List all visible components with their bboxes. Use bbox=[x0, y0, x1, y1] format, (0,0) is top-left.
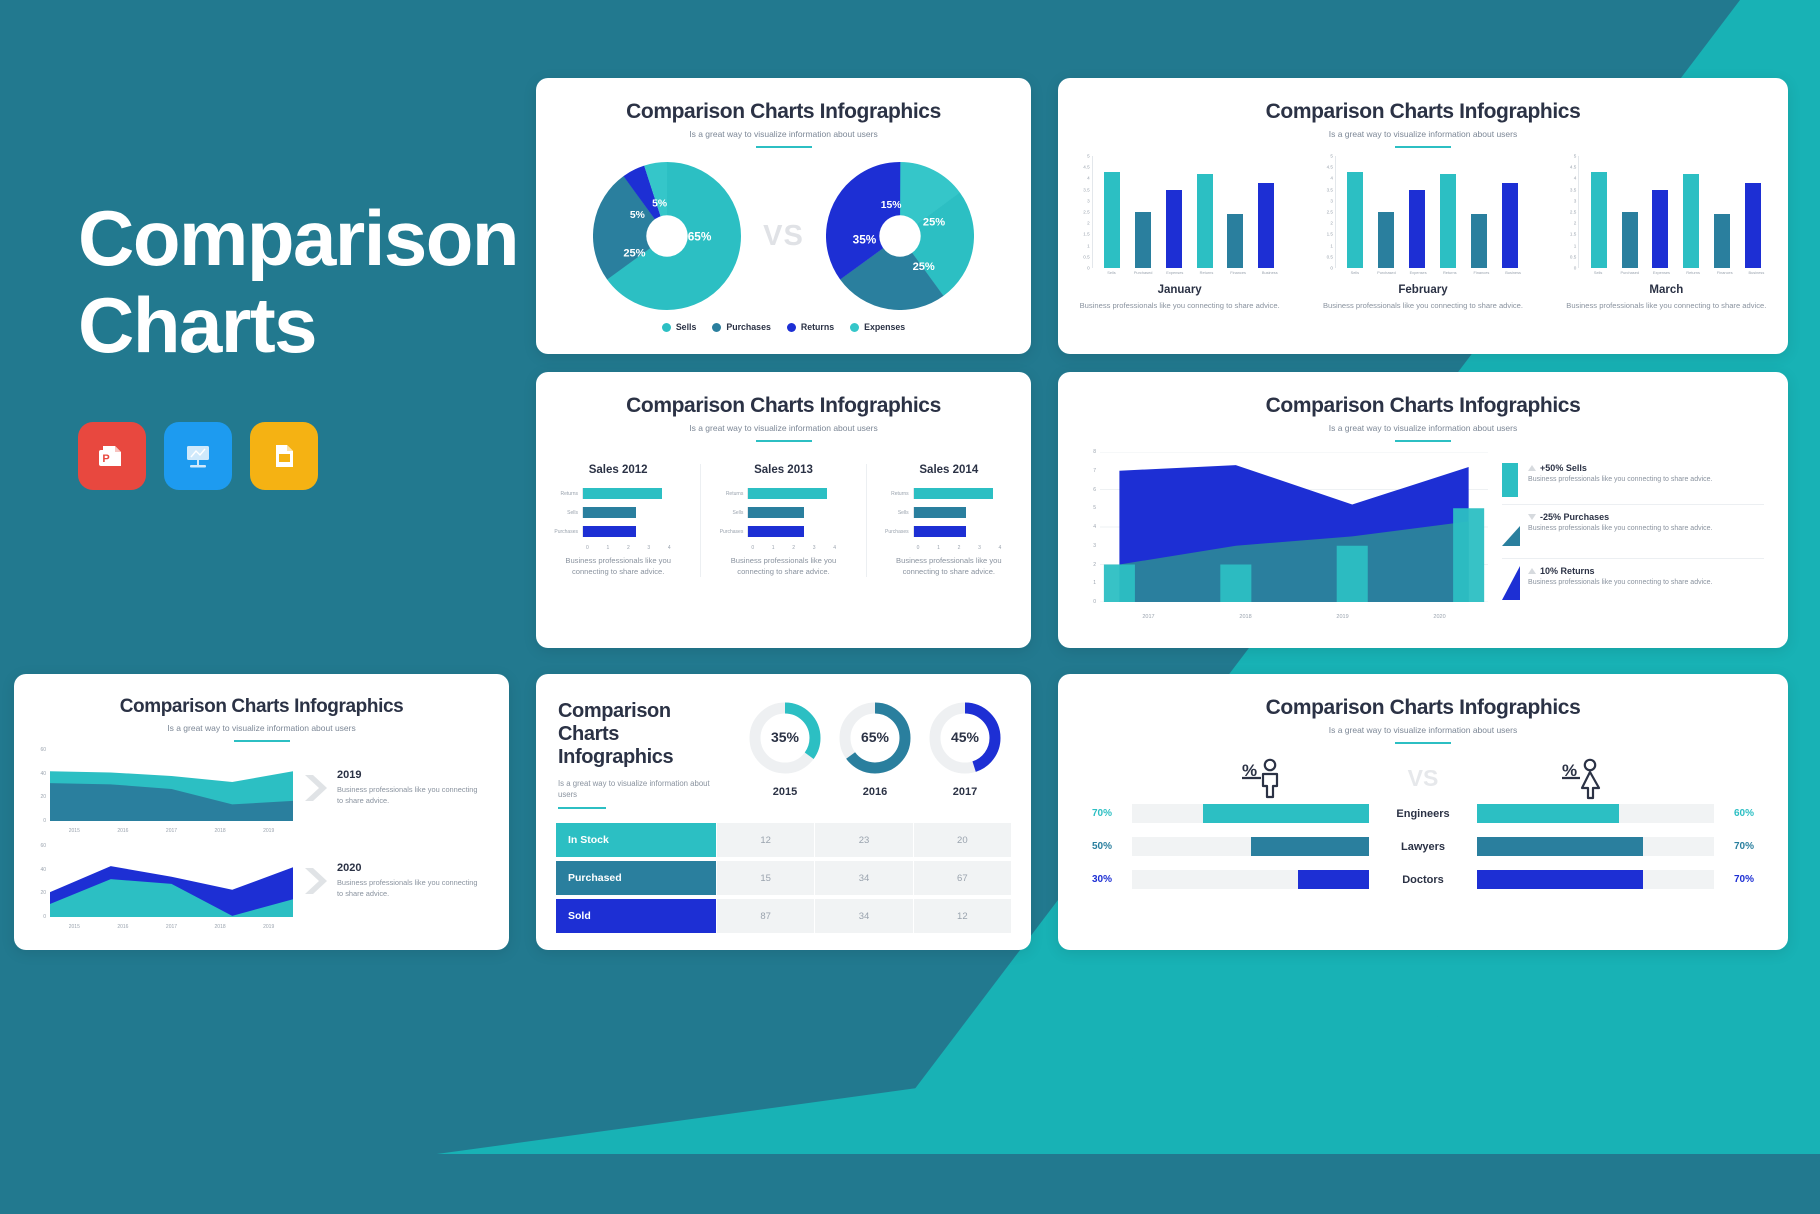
month-description: Business professionals like you connecti… bbox=[1560, 300, 1772, 311]
y-tick: 3.5 bbox=[1570, 187, 1576, 192]
left-fill[interactable] bbox=[1251, 837, 1370, 856]
x-tick: 0 bbox=[586, 545, 606, 551]
card3-rule bbox=[756, 440, 812, 442]
area-y-axis: 6040200 bbox=[32, 846, 48, 917]
hbar-fill[interactable] bbox=[583, 526, 636, 537]
x-tick: Returns bbox=[1439, 270, 1461, 275]
card1-legend: Sells Purchases Returns Expenses bbox=[536, 322, 1031, 332]
x-tick: 1 bbox=[606, 545, 626, 551]
y-tick: 60 bbox=[40, 747, 46, 753]
legend-title-text: -25% Purchases bbox=[1540, 512, 1609, 522]
bar-chart-x-axis: SellsPurchasedExpensesReturnsFinancesBus… bbox=[1560, 270, 1772, 275]
profession-name: Doctors bbox=[1369, 874, 1477, 886]
area-y-axis: 6040200 bbox=[32, 750, 48, 821]
y-tick: 0 bbox=[1330, 266, 1333, 271]
bar[interactable] bbox=[1227, 214, 1243, 268]
legend-title-text: +50% Sells bbox=[1540, 463, 1587, 473]
card3-header: Comparison Charts Infographics Is a grea… bbox=[536, 372, 1031, 442]
card6-title-block: Comparison Charts Infographics Is a grea… bbox=[558, 700, 718, 809]
card-yearly-areas: Comparison Charts Infographics Is a grea… bbox=[14, 674, 509, 950]
hbar-track bbox=[913, 507, 1019, 518]
y-tick: 1 bbox=[1330, 243, 1333, 248]
card7-subtitle: Is a great way to visualize information … bbox=[1058, 725, 1788, 735]
card-sales-hbars: Comparison Charts Infographics Is a grea… bbox=[536, 372, 1031, 648]
donut-row: 65% 25% 5% 5% VS 15% 25% 25% 35% bbox=[536, 162, 1031, 310]
legend-dot-returns bbox=[787, 323, 796, 332]
area-chart[interactable]: 876543210 2017201820192020 bbox=[1082, 452, 1488, 620]
x-tick: Purchased bbox=[1132, 270, 1154, 275]
stacked-area-chart[interactable]: 6040200 20152016201720182019 bbox=[32, 750, 293, 834]
legend-item-expenses[interactable]: Expenses bbox=[850, 322, 905, 332]
legend-dot-expenses bbox=[850, 323, 859, 332]
trend-up-icon bbox=[1528, 465, 1536, 471]
right-track bbox=[1477, 804, 1714, 823]
table-cell: 12 bbox=[716, 823, 814, 857]
bar[interactable] bbox=[1502, 183, 1518, 268]
left-percent: 30% bbox=[1092, 874, 1132, 885]
x-tick: 3 bbox=[978, 545, 998, 551]
bar-chart-x-axis: SellsPurchasedExpensesReturnsFinancesBus… bbox=[1074, 270, 1286, 275]
hbar-fill[interactable] bbox=[914, 526, 967, 537]
hbar-label: Purchases bbox=[879, 529, 913, 535]
card7-header: Comparison Charts Infographics Is a grea… bbox=[1058, 674, 1788, 744]
ring-year: 2017 bbox=[927, 786, 1003, 798]
hbar-track bbox=[747, 507, 853, 518]
x-tick: Purchased bbox=[1375, 270, 1397, 275]
sales-title: Sales 2014 bbox=[879, 464, 1019, 476]
hbar-fill[interactable] bbox=[583, 488, 662, 499]
year-description: Business professionals like you connecti… bbox=[337, 877, 483, 899]
legend-title-text: 10% Returns bbox=[1540, 566, 1595, 576]
bar[interactable] bbox=[1347, 172, 1363, 268]
bar[interactable] bbox=[1378, 212, 1394, 268]
ring-value: 45% bbox=[951, 729, 980, 745]
year-callout: 2019 Business professionals like you con… bbox=[303, 769, 483, 806]
x-tick: Expenses bbox=[1164, 270, 1186, 275]
y-tick: 2 bbox=[1330, 221, 1333, 226]
month-block: 54.543.532.521.510.50 SellsPurchasedExpe… bbox=[1317, 156, 1529, 311]
x-tick: Finances bbox=[1227, 270, 1249, 275]
card6-subtitle: Is a great way to visualize information … bbox=[558, 778, 718, 801]
card5-header: Comparison Charts Infographics Is a grea… bbox=[14, 674, 509, 742]
x-tick: Purchased bbox=[1619, 270, 1641, 275]
sales-column: Sales 2014 Returns Sells bbox=[866, 464, 1031, 577]
card4-title: Comparison Charts Infographics bbox=[1058, 394, 1788, 418]
bar-chart-plot bbox=[1578, 156, 1772, 268]
bar-chart[interactable]: 54.543.532.521.510.50 bbox=[1560, 156, 1772, 268]
y-tick: 1 bbox=[1093, 580, 1096, 586]
card7-body: % VS % 70% Engineers 60%50% bbox=[1058, 744, 1788, 889]
keynote-icon[interactable] bbox=[164, 422, 232, 490]
table-row: In Stock122320 bbox=[556, 823, 1011, 857]
card4-rule bbox=[1395, 440, 1451, 442]
x-tick: 2019 bbox=[244, 828, 293, 834]
card-monthly-bars: Comparison Charts Infographics Is a grea… bbox=[1058, 78, 1788, 354]
x-tick: Finances bbox=[1470, 270, 1492, 275]
left-percent: 70% bbox=[1092, 808, 1132, 819]
legend-title: 10% Returns bbox=[1528, 566, 1712, 576]
table-cell: 34 bbox=[814, 899, 912, 933]
hbar-row: Sells bbox=[879, 507, 1019, 518]
y-tick: 0 bbox=[43, 818, 46, 824]
y-tick: 8 bbox=[1093, 449, 1096, 455]
hbar-label: Purchases bbox=[548, 529, 582, 535]
bar-chart-plot bbox=[1335, 156, 1529, 268]
x-tick: 1 bbox=[772, 545, 792, 551]
y-tick: 1 bbox=[1087, 243, 1090, 248]
y-tick: 4.5 bbox=[1570, 165, 1576, 170]
donut-b-label-15: 15% bbox=[881, 200, 902, 211]
x-tick: Sells bbox=[1344, 270, 1366, 275]
card5-subtitle: Is a great way to visualize information … bbox=[14, 723, 509, 733]
trend-down-icon bbox=[1528, 514, 1536, 520]
bar[interactable] bbox=[1440, 174, 1456, 268]
y-tick: 6 bbox=[1093, 487, 1096, 493]
bar-chart-y-axis: 54.543.532.521.510.50 bbox=[1560, 156, 1578, 268]
table-row-label: Sold bbox=[556, 899, 716, 933]
year-label: 2020 bbox=[337, 862, 483, 874]
y-tick: 0 bbox=[1574, 266, 1577, 271]
x-tick: 2015 bbox=[50, 924, 99, 930]
area-chart-x-axis: 2017201820192020 bbox=[1100, 614, 1488, 620]
hbar-row: Sells bbox=[713, 507, 853, 518]
x-tick: 2015 bbox=[50, 828, 99, 834]
x-tick: 3 bbox=[813, 545, 833, 551]
trend-up-icon bbox=[1528, 568, 1536, 574]
y-tick: 1.5 bbox=[1570, 232, 1576, 237]
legend-label-sells: Sells bbox=[676, 322, 697, 332]
x-tick: 2019 bbox=[244, 924, 293, 930]
card2-header: Comparison Charts Infographics Is a grea… bbox=[1058, 78, 1788, 148]
hbar-track bbox=[913, 488, 1019, 499]
y-tick: 5 bbox=[1093, 505, 1096, 511]
chevron-right-icon bbox=[303, 866, 329, 896]
y-tick: 3.5 bbox=[1327, 187, 1333, 192]
legend-dot-sells bbox=[662, 323, 671, 332]
legend-item-purchases[interactable]: Purchases bbox=[712, 322, 771, 332]
background-bottom-strip bbox=[0, 1154, 1820, 1214]
y-tick: 2.5 bbox=[1083, 210, 1089, 215]
bar[interactable] bbox=[1471, 214, 1487, 268]
year-label: 2019 bbox=[337, 769, 483, 781]
page-title: Comparison Charts bbox=[78, 195, 548, 370]
sales-description: Business professionals like you connecti… bbox=[713, 555, 853, 577]
hbar-track bbox=[582, 507, 688, 518]
hbar-fill[interactable] bbox=[748, 526, 803, 537]
profession-name: Lawyers bbox=[1369, 841, 1477, 853]
right-percent: 60% bbox=[1714, 808, 1754, 819]
donut-b-label-35: 35% bbox=[852, 232, 876, 246]
legend-swatch bbox=[1502, 566, 1520, 605]
y-tick: 4.5 bbox=[1327, 165, 1333, 170]
area-chart-legend: +50% Sells Business professionals like y… bbox=[1502, 452, 1764, 620]
y-tick: 40 bbox=[40, 771, 46, 777]
card4-body: 876543210 2017201820192020 +50% Sells Bu… bbox=[1058, 452, 1788, 620]
x-tick: 2 bbox=[958, 545, 978, 551]
legend-item-sells[interactable]: Sells bbox=[662, 322, 697, 332]
area-chart-plot bbox=[1100, 452, 1488, 602]
bar-chart-y-axis: 54.543.532.521.510.50 bbox=[1074, 156, 1092, 268]
y-tick: 0 bbox=[1093, 599, 1096, 605]
progress-ring[interactable]: 45% bbox=[927, 700, 1003, 776]
page-title-line1: Comparison bbox=[78, 195, 548, 282]
month-description: Business professionals like you connecti… bbox=[1074, 300, 1286, 311]
hbar-label: Returns bbox=[879, 491, 913, 497]
bar[interactable] bbox=[1714, 214, 1730, 268]
y-tick: 3 bbox=[1087, 198, 1090, 203]
x-tick: Returns bbox=[1195, 270, 1217, 275]
y-tick: 0.5 bbox=[1327, 254, 1333, 259]
bar-chart[interactable]: 54.543.532.521.510.50 bbox=[1074, 156, 1286, 268]
y-tick: 0 bbox=[1087, 266, 1090, 271]
chevron-right-icon bbox=[303, 773, 329, 803]
x-tick: Business bbox=[1502, 270, 1524, 275]
area-x-axis: 20152016201720182019 bbox=[50, 924, 293, 930]
legend-item-returns[interactable]: Returns bbox=[787, 322, 834, 332]
legend-label-purchases: Purchases bbox=[726, 322, 771, 332]
card1-subtitle: Is a great way to visualize information … bbox=[536, 129, 1031, 139]
table-cell: 34 bbox=[814, 861, 912, 895]
y-tick: 1.5 bbox=[1083, 232, 1089, 237]
card7-icon-row: % VS % bbox=[1092, 756, 1754, 800]
bar[interactable] bbox=[1622, 212, 1638, 268]
donut-b-label-25a: 25% bbox=[923, 217, 945, 229]
sales-title: Sales 2013 bbox=[713, 464, 853, 476]
bar[interactable] bbox=[1197, 174, 1213, 268]
left-track bbox=[1132, 837, 1369, 856]
hbar-axis: 01234 bbox=[548, 545, 688, 551]
legend-row[interactable]: -25% Purchases Business professionals li… bbox=[1502, 504, 1764, 558]
bar[interactable] bbox=[1652, 190, 1668, 268]
x-tick: 2017 bbox=[147, 828, 196, 834]
y-tick: 2 bbox=[1087, 221, 1090, 226]
y-tick: 40 bbox=[40, 867, 46, 873]
bar-chart[interactable]: 54.543.532.521.510.50 bbox=[1317, 156, 1529, 268]
google-slides-icon[interactable] bbox=[250, 422, 318, 490]
table-row: Sold873412 bbox=[556, 899, 1011, 933]
ring-year: 2016 bbox=[837, 786, 913, 798]
table-cell: 87 bbox=[716, 899, 814, 933]
y-tick: 4 bbox=[1330, 176, 1333, 181]
profession-rows: 70% Engineers 60%50% Lawyers 70%30% bbox=[1092, 804, 1754, 889]
hbar-track bbox=[582, 488, 688, 499]
x-tick: 2019 bbox=[1294, 614, 1391, 620]
y-tick: 2.5 bbox=[1570, 210, 1576, 215]
x-tick: 2018 bbox=[196, 828, 245, 834]
x-tick: 2016 bbox=[99, 924, 148, 930]
table-cell: 15 bbox=[716, 861, 814, 895]
x-tick: Sells bbox=[1100, 270, 1122, 275]
table-cell: 67 bbox=[913, 861, 1011, 895]
x-tick: 2017 bbox=[1100, 614, 1197, 620]
vs-label-card7: VS bbox=[1408, 765, 1439, 792]
bar[interactable] bbox=[1683, 174, 1699, 268]
right-fill[interactable] bbox=[1477, 837, 1643, 856]
bar[interactable] bbox=[1591, 172, 1607, 268]
donut-chart-a[interactable]: 65% 25% 5% 5% bbox=[593, 162, 741, 310]
x-tick: 0 bbox=[751, 545, 771, 551]
month-block: 54.543.532.521.510.50 SellsPurchasedExpe… bbox=[1074, 156, 1286, 311]
right-track bbox=[1477, 837, 1714, 856]
card5-body: 6040200 201520162017201820196040200 2015… bbox=[14, 742, 509, 942]
donut-a-label-25: 25% bbox=[623, 248, 645, 260]
progress-ring[interactable]: 35% bbox=[747, 700, 823, 776]
y-tick: 20 bbox=[40, 890, 46, 896]
x-tick: 0 bbox=[917, 545, 937, 551]
hbar-row: Purchases bbox=[713, 526, 853, 537]
card6-top: Comparison Charts Infographics Is a grea… bbox=[536, 674, 1031, 809]
area-plot bbox=[50, 750, 293, 821]
y-tick: 4 bbox=[1093, 524, 1096, 530]
card3-title: Comparison Charts Infographics bbox=[536, 394, 1031, 418]
bar[interactable] bbox=[1104, 172, 1120, 268]
table-row-label: In Stock bbox=[556, 823, 716, 857]
hbar-label: Sells bbox=[879, 510, 913, 516]
sales-title: Sales 2012 bbox=[548, 464, 688, 476]
y-tick: 2 bbox=[1574, 221, 1577, 226]
left-track bbox=[1132, 870, 1369, 889]
left-fill[interactable] bbox=[1203, 804, 1369, 823]
card4-subtitle: Is a great way to visualize information … bbox=[1058, 423, 1788, 433]
hbar-row: Purchases bbox=[548, 526, 688, 537]
y-tick: 60 bbox=[40, 843, 46, 849]
donut-a-label-65: 65% bbox=[688, 229, 712, 243]
right-fill[interactable] bbox=[1477, 870, 1643, 889]
y-tick: 4 bbox=[1574, 176, 1577, 181]
hbar-fill[interactable] bbox=[748, 488, 827, 499]
area-chart-y-axis: 876543210 bbox=[1082, 452, 1098, 602]
hbar-row: Returns bbox=[879, 488, 1019, 499]
y-tick: 3 bbox=[1574, 198, 1577, 203]
progress-ring-wrap: 65% 2016 bbox=[837, 700, 913, 809]
right-percent: 70% bbox=[1714, 874, 1754, 885]
table-cell: 20 bbox=[913, 823, 1011, 857]
x-tick: 4 bbox=[833, 545, 853, 551]
y-tick: 7 bbox=[1093, 468, 1096, 474]
bar[interactable] bbox=[1135, 212, 1151, 268]
x-tick: 2 bbox=[792, 545, 812, 551]
bar[interactable] bbox=[1258, 183, 1274, 268]
hbar-fill[interactable] bbox=[583, 507, 636, 518]
y-tick: 2 bbox=[1093, 562, 1096, 568]
legend-description: Business professionals like you connecti… bbox=[1528, 524, 1712, 535]
hbar-label: Purchases bbox=[713, 529, 747, 535]
page-title-line2: Charts bbox=[78, 282, 548, 369]
hbar-label: Returns bbox=[548, 491, 582, 497]
card6-title-line1: Comparison bbox=[558, 700, 718, 723]
table-row-label: Purchased bbox=[556, 861, 716, 895]
ring-value: 65% bbox=[861, 729, 890, 745]
sales-description: Business professionals like you connecti… bbox=[879, 555, 1019, 577]
svg-text:P: P bbox=[102, 453, 109, 465]
legend-row[interactable]: 10% Returns Business professionals like … bbox=[1502, 558, 1764, 612]
hbar-fill[interactable] bbox=[914, 507, 967, 518]
bar-chart-plot bbox=[1092, 156, 1286, 268]
x-tick: Sells bbox=[1587, 270, 1609, 275]
y-tick: 0.5 bbox=[1083, 254, 1089, 259]
legend-description: Business professionals like you connecti… bbox=[1528, 578, 1712, 589]
hbar-label: Sells bbox=[548, 510, 582, 516]
legend-dot-purchases bbox=[712, 323, 721, 332]
stock-table: In Stock122320Purchased153467Sold873412 bbox=[556, 823, 1011, 933]
x-tick: 1 bbox=[937, 545, 957, 551]
hbar-fill[interactable] bbox=[748, 507, 803, 518]
month-title: January bbox=[1074, 284, 1286, 296]
bar[interactable] bbox=[1409, 190, 1425, 268]
x-tick: 2017 bbox=[147, 924, 196, 930]
table-cell: 12 bbox=[913, 899, 1011, 933]
stacked-area-chart[interactable]: 6040200 20152016201720182019 bbox=[32, 846, 293, 930]
profession-row: 30% Doctors 70% bbox=[1092, 870, 1754, 889]
hbar-track bbox=[913, 526, 1019, 537]
right-percent: 70% bbox=[1714, 841, 1754, 852]
card1-title: Comparison Charts Infographics bbox=[536, 100, 1031, 124]
legend-description: Business professionals like you connecti… bbox=[1528, 475, 1712, 486]
legend-title: +50% Sells bbox=[1528, 463, 1712, 473]
month-title: February bbox=[1317, 284, 1529, 296]
month-block: 54.543.532.521.510.50 SellsPurchasedExpe… bbox=[1560, 156, 1772, 311]
hbar-track bbox=[747, 488, 853, 499]
legend-swatch bbox=[1502, 512, 1520, 551]
progress-ring-wrap: 35% 2015 bbox=[747, 700, 823, 809]
y-tick: 5 bbox=[1574, 154, 1577, 159]
donut-chart-b[interactable]: 15% 25% 25% 35% bbox=[826, 162, 974, 310]
ring-value: 35% bbox=[771, 729, 800, 745]
x-tick: Business bbox=[1745, 270, 1767, 275]
table-row: Purchased153467 bbox=[556, 861, 1011, 895]
area-x-axis: 20152016201720182019 bbox=[50, 828, 293, 834]
hero-section: Comparison Charts P bbox=[78, 195, 548, 490]
legend-row[interactable]: +50% Sells Business professionals like y… bbox=[1502, 456, 1764, 504]
profession-row: 50% Lawyers 70% bbox=[1092, 837, 1754, 856]
monthly-bar-blocks: 54.543.532.521.510.50 SellsPurchasedExpe… bbox=[1058, 156, 1788, 311]
y-tick: 4.5 bbox=[1083, 165, 1089, 170]
left-fill[interactable] bbox=[1298, 870, 1369, 889]
y-tick: 1 bbox=[1574, 243, 1577, 248]
progress-ring[interactable]: 65% bbox=[837, 700, 913, 776]
hbar-track bbox=[747, 526, 853, 537]
hbar-fill[interactable] bbox=[914, 488, 993, 499]
hbar-label: Sells bbox=[713, 510, 747, 516]
area-plot bbox=[50, 846, 293, 917]
card-area-trend: Comparison Charts Infographics Is a grea… bbox=[1058, 372, 1788, 648]
card-rings-table: Comparison Charts Infographics Is a grea… bbox=[536, 674, 1031, 950]
legend-label-expenses: Expenses bbox=[864, 322, 905, 332]
x-tick: 2016 bbox=[99, 828, 148, 834]
left-track bbox=[1132, 804, 1369, 823]
x-tick: Business bbox=[1259, 270, 1281, 275]
card6-title-line3: Infographics bbox=[558, 746, 718, 769]
bar[interactable] bbox=[1166, 190, 1182, 268]
card6-title: Comparison Charts Infographics bbox=[558, 700, 718, 770]
y-tick: 0.5 bbox=[1570, 254, 1576, 259]
powerpoint-icon[interactable]: P bbox=[78, 422, 146, 490]
x-tick: 2018 bbox=[196, 924, 245, 930]
card6-title-line2: Charts bbox=[558, 723, 718, 746]
bar[interactable] bbox=[1745, 183, 1761, 268]
y-tick: 0 bbox=[43, 914, 46, 920]
x-tick: 3 bbox=[647, 545, 667, 551]
y-tick: 3 bbox=[1093, 543, 1096, 549]
right-fill[interactable] bbox=[1477, 804, 1619, 823]
profession-row: 70% Engineers 60% bbox=[1092, 804, 1754, 823]
x-tick: Expenses bbox=[1650, 270, 1672, 275]
x-tick: Expenses bbox=[1407, 270, 1429, 275]
card2-title: Comparison Charts Infographics bbox=[1058, 100, 1788, 124]
sales-description: Business professionals like you connecti… bbox=[548, 555, 688, 577]
card-donut-comparison: Comparison Charts Infographics Is a grea… bbox=[536, 78, 1031, 354]
legend-label-returns: Returns bbox=[801, 322, 834, 332]
